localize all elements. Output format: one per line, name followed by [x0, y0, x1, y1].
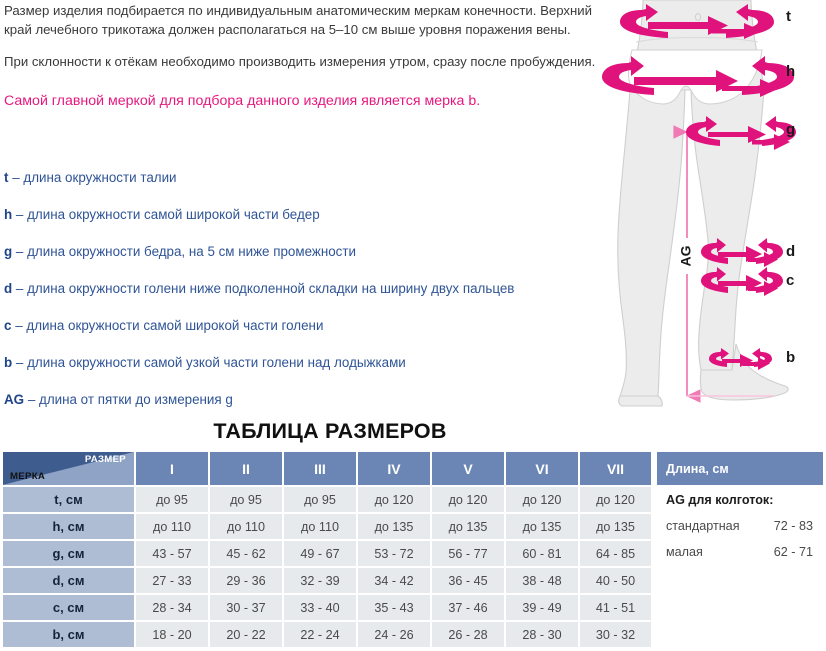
size-table: РАЗМЕР МЕРКА I II III IV V VI VII t, см … [3, 452, 651, 647]
cell-d-2: 29 - 36 [208, 566, 282, 593]
cell-c-4: 35 - 43 [356, 593, 430, 620]
cell-c-3: 33 - 40 [282, 593, 356, 620]
cell-b-2: 20 - 22 [208, 620, 282, 647]
legend-description: длина окружности голени ниже подколенной… [27, 281, 514, 296]
length-table: Длина, см AG для колготок: стандартная 7… [657, 452, 823, 565]
legend-key: h [4, 207, 12, 222]
length-row-value-standard: 72 - 83 [753, 513, 823, 539]
size-column-header-3: III [282, 452, 356, 485]
legend-description: длина окружности талии [23, 170, 176, 185]
corner-size-label: РАЗМЕР [85, 454, 126, 465]
cell-d-6: 38 - 48 [504, 566, 578, 593]
cell-t-7: до 120 [578, 485, 651, 512]
size-column-header-6: VI [504, 452, 578, 485]
figure-label-t: t [786, 8, 791, 25]
legend-dash: – [16, 244, 23, 259]
figure-label-g: g [786, 121, 795, 138]
row-label-d: d, см [3, 566, 134, 593]
row-label-t: t, см [3, 485, 134, 512]
size-column-header-1: I [134, 452, 208, 485]
cell-t-1: до 95 [134, 485, 208, 512]
cell-h-4: до 135 [356, 512, 430, 539]
cell-g-4: 53 - 72 [356, 539, 430, 566]
page-title: ТАБЛИЦА РАЗМЕРОВ [0, 419, 660, 444]
table-row: b, см 18 - 20 20 - 22 22 - 24 24 - 26 26… [3, 620, 651, 647]
figure-label-c: c [786, 272, 794, 289]
cell-c-7: 41 - 51 [578, 593, 651, 620]
legend-dash: – [12, 170, 19, 185]
intro-text-block: Размер изделия подбирается по индивидуал… [4, 2, 600, 111]
legend-item-g: g – длина окружности бедра, на 5 см ниже… [4, 243, 604, 280]
cell-b-3: 22 - 24 [282, 620, 356, 647]
row-label-c: c, см [3, 593, 134, 620]
cell-b-1: 18 - 20 [134, 620, 208, 647]
legend-dash: – [28, 392, 35, 407]
cell-c-1: 28 - 34 [134, 593, 208, 620]
intro-paragraph-1: Размер изделия подбирается по индивидуал… [4, 2, 600, 39]
legend-key: c [4, 318, 11, 333]
cell-t-6: до 120 [504, 485, 578, 512]
legend-description: длина окружности самой узкой части голен… [27, 355, 406, 370]
legend-item-t: t – длина окружности талии [4, 169, 604, 206]
cell-h-7: до 135 [578, 512, 651, 539]
cell-g-1: 43 - 57 [134, 539, 208, 566]
legend-key: AG [4, 392, 24, 407]
cell-b-6: 28 - 30 [504, 620, 578, 647]
list-item: малая 62 - 71 [657, 539, 823, 565]
legend-item-h: h – длина окружности самой широкой части… [4, 206, 604, 243]
ag-dimension-label: AG [678, 245, 694, 266]
legend-description: длина от пятки до измерения g [39, 392, 233, 407]
cell-c-2: 30 - 37 [208, 593, 282, 620]
legend-key: b [4, 355, 12, 370]
measurement-legend: t – длина окружности талии h – длина окр… [4, 169, 604, 428]
length-row-name-small: малая [657, 539, 753, 565]
length-table-header: Длина, см [657, 452, 823, 485]
legend-key: t [4, 170, 8, 185]
legend-dash: – [16, 281, 23, 296]
cell-g-3: 49 - 67 [282, 539, 356, 566]
intro-paragraph-2: При склонности к отёкам необходимо произ… [4, 53, 600, 72]
cell-g-2: 45 - 62 [208, 539, 282, 566]
table-row: t, см до 95 до 95 до 95 до 120 до 120 до… [3, 485, 651, 512]
anatomy-figure: AG [596, 0, 826, 412]
size-column-header-5: V [430, 452, 504, 485]
size-chart-page: Размер изделия подбирается по индивидуал… [0, 0, 826, 651]
figure-label-h: h [786, 63, 795, 80]
legend-key: d [4, 281, 12, 296]
legend-key: g [4, 244, 12, 259]
cell-g-7: 64 - 85 [578, 539, 651, 566]
cell-g-5: 56 - 77 [430, 539, 504, 566]
cell-t-5: до 120 [430, 485, 504, 512]
length-table-subheader-row: AG для колготок: [657, 485, 823, 513]
cell-d-3: 32 - 39 [282, 566, 356, 593]
size-column-header-4: IV [356, 452, 430, 485]
cell-h-6: до 135 [504, 512, 578, 539]
row-label-h: h, см [3, 512, 134, 539]
cell-c-5: 37 - 46 [430, 593, 504, 620]
cell-h-3: до 110 [282, 512, 356, 539]
cell-h-1: до 110 [134, 512, 208, 539]
length-table-subheader: AG для колготок: [657, 485, 823, 513]
legend-description: длина окружности самой широкой части гол… [26, 318, 323, 333]
figure-label-b: b [786, 349, 795, 366]
table-row: g, см 43 - 57 45 - 62 49 - 67 53 - 72 56… [3, 539, 651, 566]
size-column-header-7: VII [578, 452, 651, 485]
cell-t-2: до 95 [208, 485, 282, 512]
cell-t-3: до 95 [282, 485, 356, 512]
table-row: d, см 27 - 33 29 - 36 32 - 39 34 - 42 36… [3, 566, 651, 593]
list-item: стандартная 72 - 83 [657, 513, 823, 539]
legend-item-b: b – длина окружности самой узкой части г… [4, 354, 604, 391]
cell-d-7: 40 - 50 [578, 566, 651, 593]
cell-c-6: 39 - 49 [504, 593, 578, 620]
length-row-name-standard: стандартная [657, 513, 753, 539]
cell-d-1: 27 - 33 [134, 566, 208, 593]
row-label-b: b, см [3, 620, 134, 647]
cell-h-5: до 135 [430, 512, 504, 539]
cell-b-4: 24 - 26 [356, 620, 430, 647]
legend-dash: – [16, 207, 23, 222]
legend-dash: – [16, 355, 23, 370]
row-label-g: g, см [3, 539, 134, 566]
cell-b-7: 30 - 32 [578, 620, 651, 647]
highlight-note: Самой главной меркой для подбора данного… [4, 89, 600, 111]
cell-h-2: до 110 [208, 512, 282, 539]
legend-dash: – [15, 318, 22, 333]
legend-description: длина окружности бедра, на 5 см ниже про… [27, 244, 356, 259]
length-table-header-row: Длина, см [657, 452, 823, 485]
legend-description: длина окружности самой широкой части бед… [27, 207, 320, 222]
length-row-value-small: 62 - 71 [753, 539, 823, 565]
table-row: c, см 28 - 34 30 - 37 33 - 40 35 - 43 37… [3, 593, 651, 620]
cell-d-5: 36 - 45 [430, 566, 504, 593]
figure-label-d: d [786, 243, 795, 260]
header-corner-cell: РАЗМЕР МЕРКА [3, 452, 134, 485]
cell-g-6: 60 - 81 [504, 539, 578, 566]
cell-t-4: до 120 [356, 485, 430, 512]
size-column-header-2: II [208, 452, 282, 485]
legend-item-d: d – длина окружности голени ниже подколе… [4, 280, 604, 317]
size-table-header-row: РАЗМЕР МЕРКА I II III IV V VI VII [3, 452, 651, 485]
legend-item-c: c – длина окружности самой широкой части… [4, 317, 604, 354]
cell-d-4: 34 - 42 [356, 566, 430, 593]
cell-b-5: 26 - 28 [430, 620, 504, 647]
table-row: h, см до 110 до 110 до 110 до 135 до 135… [3, 512, 651, 539]
corner-measure-label: МЕРКА [10, 471, 45, 482]
